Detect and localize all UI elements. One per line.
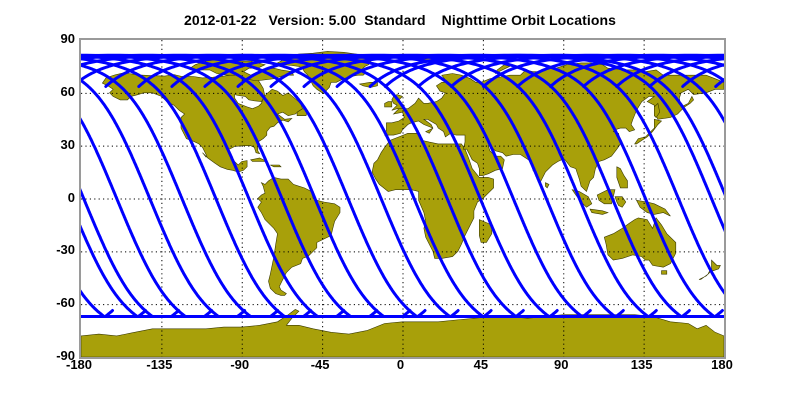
y-tick-label: 30 (41, 138, 75, 151)
x-tick-label: 90 (531, 358, 591, 371)
x-tick-label: -135 (129, 358, 189, 371)
x-tick-label: 180 (692, 358, 752, 371)
x-tick-label: -45 (290, 358, 350, 371)
y-tick-label: 60 (41, 85, 75, 98)
landmass-tasmania (662, 271, 667, 275)
figure-title: 2012-01-22 Version: 5.00 Standard Nightt… (0, 12, 800, 28)
y-axis-tick-labels: -90-60-300306090 (30, 38, 75, 355)
plot-area (79, 38, 726, 359)
x-tick-label: -180 (49, 358, 109, 371)
x-axis-tick-labels: -180-135-90-4504590135180 (79, 358, 722, 378)
x-tick-label: 135 (612, 358, 672, 371)
x-tick-label: 45 (451, 358, 511, 371)
y-tick-label: -60 (41, 296, 75, 309)
x-tick-label: 0 (371, 358, 431, 371)
orbit-map-figure: 2012-01-22 Version: 5.00 Standard Nightt… (0, 0, 800, 400)
y-tick-label: 90 (41, 32, 75, 45)
x-tick-label: -90 (210, 358, 270, 371)
y-tick-label: -30 (41, 243, 75, 256)
world-map-with-orbit-tracks (81, 40, 724, 357)
y-tick-label: 0 (41, 191, 75, 204)
